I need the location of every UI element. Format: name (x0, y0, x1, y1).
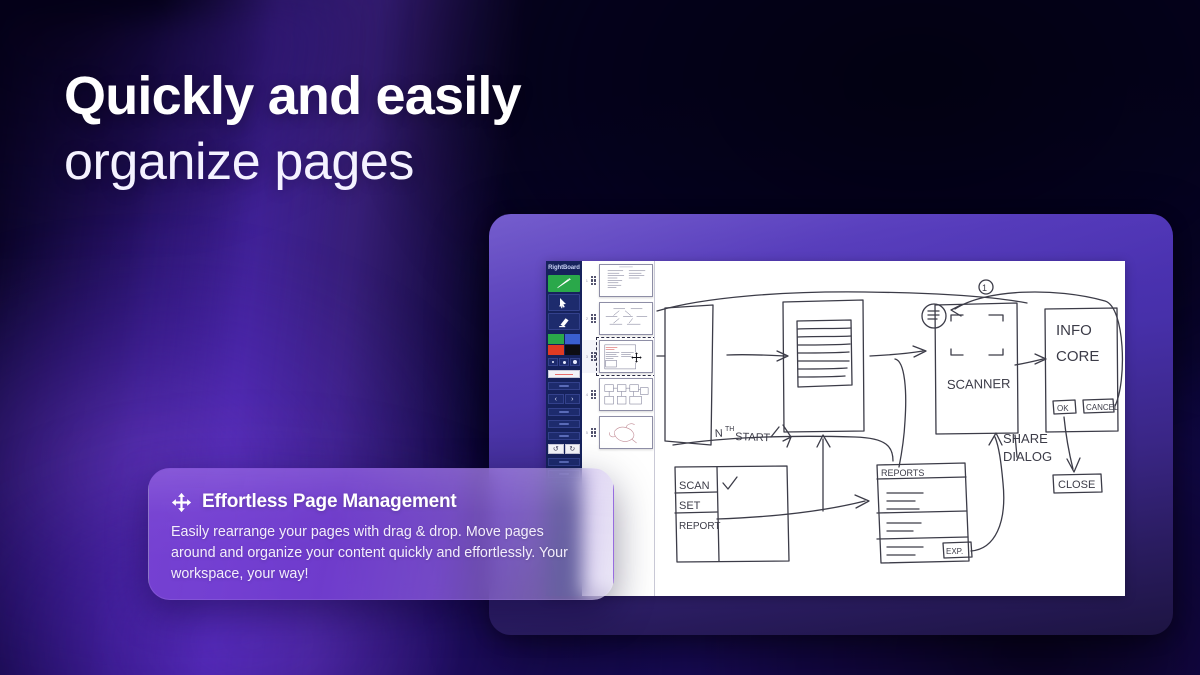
eraser-tool-button[interactable] (548, 313, 580, 330)
color-swatch-red[interactable] (548, 345, 564, 355)
page-thumbnail-selected[interactable] (599, 340, 653, 373)
drag-handle-icon[interactable] (590, 313, 597, 324)
page-thumbnail[interactable] (599, 416, 653, 449)
svg-text:CLOSE: CLOSE (1058, 479, 1095, 491)
whiteboard-canvas[interactable]: SCANNER 1 INFO CORE OK CANCEL (655, 261, 1125, 596)
pencil-icon (554, 278, 574, 289)
undo-button[interactable]: ↺ (548, 444, 564, 454)
svg-text:REPORT: REPORT (679, 521, 721, 532)
move-arrows-icon (171, 492, 192, 513)
svg-text:SET: SET (679, 500, 701, 512)
page-thumbnail[interactable] (599, 264, 653, 297)
page-number: 5 (583, 430, 588, 435)
list-item[interactable]: 3 (582, 340, 654, 373)
thumbnail-ink (600, 303, 652, 335)
page-number: 4 (583, 392, 588, 397)
page-number: 2 (583, 316, 588, 321)
drag-handle-icon[interactable] (590, 351, 597, 362)
svg-text:SCAN: SCAN (679, 480, 710, 492)
stroke-size-large[interactable] (570, 358, 580, 366)
svg-text:CORE: CORE (1056, 348, 1099, 365)
color-swatch-blue[interactable] (565, 334, 581, 344)
svg-text:OK: OK (1057, 404, 1069, 413)
stroke-size-medium[interactable] (559, 358, 569, 366)
history-group: ↺ ↻ (548, 444, 580, 454)
stroke-size-row (548, 358, 580, 366)
page-thumbnail[interactable] (599, 378, 653, 411)
page-next-button[interactable]: › (565, 394, 581, 404)
drag-handle-icon[interactable] (590, 275, 597, 286)
headline-line-2: organize pages (64, 133, 704, 191)
card-header: Effortless Page Management (171, 491, 587, 513)
stroke-size-small[interactable] (548, 358, 558, 366)
option-strip-2[interactable] (548, 408, 580, 416)
option-strip-5[interactable] (548, 458, 580, 466)
cursor-plus-icon (554, 297, 574, 309)
svg-text:INFO: INFO (1056, 322, 1092, 339)
color-swatch-grid (548, 334, 580, 355)
move-cursor-icon (630, 351, 643, 364)
select-add-tool-button[interactable] (548, 294, 580, 311)
app-name-label: RightBoard (547, 263, 581, 273)
pen-tool-button[interactable] (548, 275, 580, 292)
svg-text:SCANNER: SCANNER (947, 376, 1011, 392)
headline: Quickly and easily organize pages (64, 68, 704, 191)
page-thumbnail[interactable] (599, 302, 653, 335)
color-swatch-black[interactable] (565, 345, 581, 355)
thumbnail-ink (600, 341, 652, 373)
feature-card: Effortless Page Management Easily rearra… (148, 468, 614, 600)
list-item[interactable]: 1 (582, 264, 654, 297)
page-prev-button[interactable]: ‹ (548, 394, 564, 404)
list-item[interactable]: 2 (582, 302, 654, 335)
thumbnail-ink (600, 265, 652, 297)
svg-text:TH: TH (725, 426, 734, 433)
card-description: Easily rearrange your pages with drag & … (171, 522, 583, 585)
page-number: 3 (583, 354, 588, 359)
color-swatch-green[interactable] (548, 334, 564, 344)
thumbnail-ink (600, 379, 652, 411)
thumbnail-ink (600, 417, 652, 449)
option-strip-4[interactable] (548, 432, 580, 440)
option-strip-1[interactable] (548, 382, 580, 390)
svg-text:DIALOG: DIALOG (1003, 449, 1052, 464)
svg-text:CANCEL: CANCEL (1086, 403, 1119, 412)
page-nav-group: ‹ › (548, 394, 580, 404)
svg-text:N: N (715, 428, 724, 440)
svg-text:EXP.: EXP. (946, 547, 963, 556)
app-viewport: RightBoard (546, 261, 1125, 596)
color-preview-strip[interactable] (548, 370, 580, 378)
list-item[interactable]: 5 (582, 416, 654, 449)
svg-text:REPORTS: REPORTS (881, 468, 924, 478)
list-item[interactable]: 4 (582, 378, 654, 411)
svg-text:SHARE: SHARE (1003, 431, 1048, 446)
eraser-icon (554, 316, 574, 328)
svg-text:1: 1 (982, 283, 987, 293)
svg-text:START: START (735, 431, 771, 444)
card-title: Effortless Page Management (202, 491, 457, 513)
option-strip-3[interactable] (548, 420, 580, 428)
redo-button[interactable]: ↻ (565, 444, 581, 454)
whiteboard-drawing: SCANNER 1 INFO CORE OK CANCEL (655, 261, 1125, 596)
drag-handle-icon[interactable] (590, 427, 597, 438)
drag-handle-icon[interactable] (590, 389, 597, 400)
headline-line-1: Quickly and easily (64, 68, 704, 125)
page-number: 1 (583, 278, 588, 283)
